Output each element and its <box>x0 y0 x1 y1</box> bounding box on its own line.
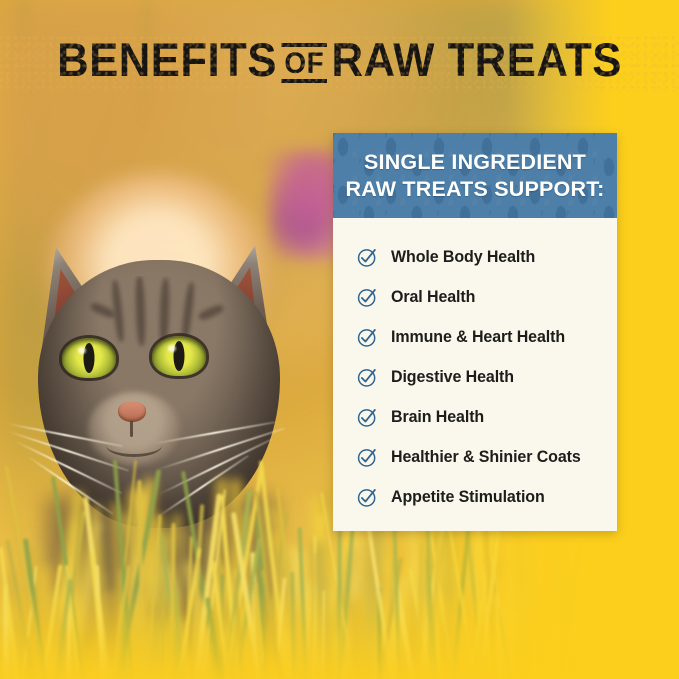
list-item: Healthier & Shinier Coats <box>357 437 617 477</box>
check-circle-icon <box>357 327 378 348</box>
list-item-label: Digestive Health <box>391 368 514 387</box>
list-item-label: Brain Health <box>391 408 484 427</box>
list-item: Oral Health <box>357 277 617 317</box>
list-item: Appetite Stimulation <box>357 477 617 517</box>
check-circle-icon <box>357 407 378 428</box>
card-header-title: SINGLE INGREDIENT RAW TREATS SUPPORT: <box>345 149 604 201</box>
list-item-label: Immune & Heart Health <box>391 328 565 347</box>
title-raw-treats: RAW TREATS <box>332 33 622 86</box>
benefits-list: Whole Body Health Oral Health Immune & H… <box>333 218 617 517</box>
list-item-label: Whole Body Health <box>391 248 535 267</box>
card-header-line1: SINGLE INGREDIENT <box>364 150 586 174</box>
list-item: Digestive Health <box>357 357 617 397</box>
card-header-line2: RAW TREATS SUPPORT: <box>345 177 604 201</box>
list-item: Whole Body Health <box>357 237 617 277</box>
title-benefits: BENEFITS <box>57 33 277 86</box>
list-item-label: Oral Health <box>391 288 475 307</box>
list-item: Immune & Heart Health <box>357 317 617 357</box>
check-circle-icon <box>357 367 378 388</box>
check-circle-icon <box>357 447 378 468</box>
right-solid-band <box>617 0 679 679</box>
check-circle-icon <box>357 487 378 508</box>
check-circle-icon <box>357 287 378 308</box>
list-item-label: Appetite Stimulation <box>391 488 545 507</box>
page-title: BENEFITSOFRAW TREATS <box>24 36 655 83</box>
cat-left-eye <box>62 338 116 378</box>
tabby-stripes <box>70 276 250 396</box>
benefits-poster: BENEFITSOFRAW TREATS SINGLE INGREDIENT R… <box>0 0 679 679</box>
list-item-label: Healthier & Shinier Coats <box>391 448 581 467</box>
card-header: SINGLE INGREDIENT RAW TREATS SUPPORT: <box>333 133 617 218</box>
benefits-card: SINGLE INGREDIENT RAW TREATS SUPPORT: Wh… <box>333 133 617 531</box>
title-of: OF <box>282 43 327 83</box>
cat-right-eye <box>152 336 206 376</box>
list-item: Brain Health <box>357 397 617 437</box>
check-circle-icon <box>357 247 378 268</box>
